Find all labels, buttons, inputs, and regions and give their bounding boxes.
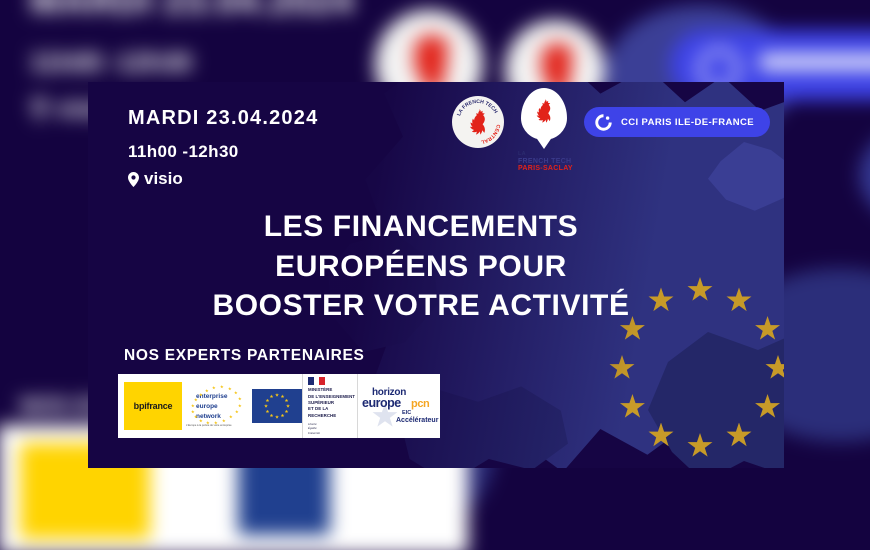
een-line2: europe xyxy=(196,402,227,412)
event-location-row: visio xyxy=(128,169,318,189)
eu-flag-star xyxy=(265,399,269,403)
bpifrance-label: bpifrance xyxy=(134,401,173,411)
partner-logo-european-union xyxy=(252,374,302,438)
partners-section: NOS EXPERTS PARTENAIRES bpifrance enterp… xyxy=(118,347,440,438)
eu-flag-star xyxy=(285,399,289,403)
french-tech-central-logo: LA FRENCH TECH CENTRAL xyxy=(452,96,504,148)
french-tech-saclay-line2: FRENCH TECH xyxy=(514,158,574,166)
french-tech-paris-saclay-logo: LA FRENCH TECH PARIS-SACLAY xyxy=(514,88,574,173)
accelerateur-word: Accélérateur xyxy=(396,417,438,424)
french-rooster-pin-icon xyxy=(521,88,567,140)
eu-flag-star xyxy=(270,394,274,398)
een-star xyxy=(191,404,195,408)
een-star xyxy=(238,404,242,408)
een-tagline: L'Europe à la portée de votre entreprise xyxy=(186,424,232,427)
background-date-text: MARDI 23.04.2024 xyxy=(30,0,354,22)
een-star xyxy=(229,415,233,419)
een-star xyxy=(235,410,239,414)
eu-flag-star xyxy=(275,415,279,419)
event-time: 11h00 -12h30 xyxy=(128,142,318,162)
european-union-flag-icon xyxy=(252,389,302,423)
ministere-motto: Liberté Égalité Fraternité xyxy=(308,422,357,435)
een-star xyxy=(238,397,242,401)
eic-word: EIC xyxy=(402,410,411,416)
map-pin-icon xyxy=(128,172,139,187)
eu-flag-star xyxy=(264,404,268,408)
eu-flag-star xyxy=(281,414,285,418)
event-info-block: MARDI 23.04.2024 11h00 -12h30 visio xyxy=(128,107,318,189)
partner-logo-strip: bpifrance enterprise europe network L'Eu… xyxy=(118,374,440,438)
card-content: MARDI 23.04.2024 11h00 -12h30 visio LA F… xyxy=(88,82,784,468)
horizon-europe-mark: horizon europe pcn EIC Accélérateur xyxy=(358,383,434,429)
organizer-logos-row: LA FRENCH TECH CENTRAL xyxy=(452,88,770,173)
poster-stage: MARDI 23.04.2024 11h00 -12h30 ⚲ visio NO… xyxy=(0,0,870,550)
eu-flag-star xyxy=(270,414,274,418)
een-mark: enterprise europe network L'Europe à la … xyxy=(182,384,252,428)
event-location-label: visio xyxy=(144,169,183,189)
french-rooster-icon xyxy=(466,108,490,138)
french-flag-icon xyxy=(308,377,325,385)
background-time-text: 11h00 -12h30 xyxy=(30,47,192,78)
pcn-word: pcn xyxy=(411,398,429,410)
europe-word: europe xyxy=(362,396,401,410)
headline-line-3: BOOSTER VOTRE ACTIVITÉ xyxy=(88,286,754,326)
background-cci-label xyxy=(760,54,870,70)
een-star xyxy=(220,385,224,389)
ministere-block: MINISTÈRE DE L'ENSEIGNEMENT SUPÉRIEUR ET… xyxy=(303,377,357,434)
headline-line-1: LES FINANCEMENTS xyxy=(88,207,754,247)
een-star xyxy=(228,387,232,391)
eu-flag-star xyxy=(275,393,279,397)
partners-title: NOS EXPERTS PARTENAIRES xyxy=(118,347,440,365)
french-tech-saclay-line3: PARIS-SACLAY xyxy=(514,165,574,173)
event-date: MARDI 23.04.2024 xyxy=(128,107,318,130)
partner-logo-enterprise-europe-network: enterprise europe network L'Europe à la … xyxy=(182,374,252,438)
headline-line-2: EUROPÉENS POUR xyxy=(88,247,754,287)
eu-flag-star xyxy=(286,404,290,408)
een-star xyxy=(191,410,195,414)
partner-logo-ministere: MINISTÈRE DE L'ENSEIGNEMENT SUPÉRIEUR ET… xyxy=(302,374,358,438)
bpifrance-yellow-box: bpifrance xyxy=(124,382,182,430)
partner-logo-bpifrance: bpifrance xyxy=(124,374,182,438)
een-text-block: enterprise europe network xyxy=(196,392,227,421)
een-star xyxy=(212,386,216,390)
eu-flag-star xyxy=(285,410,289,414)
ministere-text: MINISTÈRE DE L'ENSEIGNEMENT SUPÉRIEUR ET… xyxy=(308,387,357,419)
eu-flag-star xyxy=(281,394,285,398)
een-star xyxy=(234,391,238,395)
eu-flag-star xyxy=(265,410,269,414)
partner-logo-horizon-europe-pcn: horizon europe pcn EIC Accélérateur xyxy=(358,374,434,438)
french-tech-saclay-labels: LA FRENCH TECH PARIS-SACLAY xyxy=(514,152,574,173)
cci-paris-idf-badge[interactable]: CCI PARIS ILE-DE-FRANCE xyxy=(584,107,770,137)
cci-monogram-icon xyxy=(594,113,613,132)
ministere-line4: ET DE LA RECHERCHE xyxy=(308,406,357,419)
cci-badge-label: CCI PARIS ILE-DE-FRANCE xyxy=(621,117,754,128)
poster-headline: LES FINANCEMENTS EUROPÉENS POUR BOOSTER … xyxy=(88,207,784,326)
motto-fraternite: Fraternité xyxy=(308,431,357,435)
poster-card: MARDI 23.04.2024 11h00 -12h30 visio LA F… xyxy=(88,82,784,468)
french-rooster-icon xyxy=(533,98,555,126)
